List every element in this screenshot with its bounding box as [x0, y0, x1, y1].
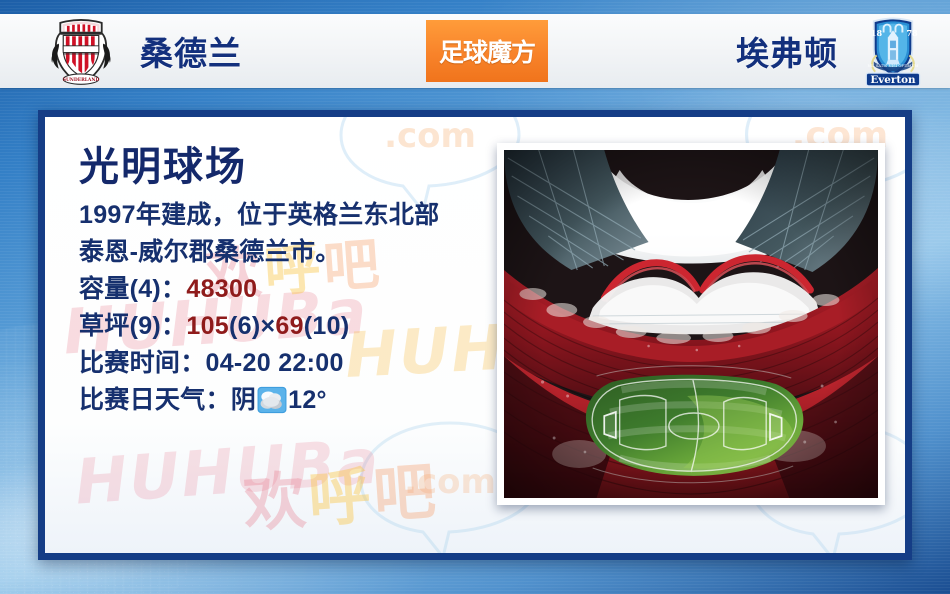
home-team-block[interactable]: SUNDERLAND 桑德兰	[0, 14, 426, 88]
stadium-photo	[504, 150, 878, 498]
svg-text:78: 78	[906, 28, 918, 38]
svg-text:NIL SATIS NISI OPTIMUM: NIL SATIS NISI OPTIMUM	[868, 64, 919, 68]
pitch-width-rank: (10)	[304, 312, 350, 340]
stadium-info-card-screen: SUNDERLAND 桑德兰 足球魔方 埃弗顿	[0, 0, 950, 594]
stadium-capacity-row: 容量(4)：48300	[79, 271, 499, 308]
stadium-details: 光明球场 1997年建成，位于英格兰东北部 泰恩-威尔郡桑德兰市。 容量(4)：…	[79, 145, 499, 419]
svg-text:18: 18	[871, 28, 883, 38]
pitch-length-rank: (6)	[229, 312, 260, 340]
match-time-row: 比赛时间：04-20 22:00	[79, 345, 499, 382]
watermark-brand-cn: 欢呼吧	[240, 440, 441, 543]
stadium-description-line-1: 1997年建成，位于英格兰东北部	[79, 197, 499, 234]
away-team-name: 埃弗顿	[736, 27, 838, 75]
site-logo-text: 足球魔方	[439, 33, 535, 69]
page-title: 光明球场	[79, 145, 499, 189]
stadium-pitch-row: 草坪(9)：105(6)×69(10)	[79, 308, 499, 345]
match-time-value: 04-20 22:00	[206, 349, 344, 377]
sunderland-afc-crest: SUNDERLAND	[44, 14, 118, 88]
pitch-length-value: 105	[186, 312, 229, 340]
home-team-name: 桑德兰	[140, 27, 242, 75]
site-logo-footballcube[interactable]: 足球魔方	[426, 20, 548, 82]
capacity-label: 容量(4)：	[79, 275, 186, 303]
capacity-value: 48300	[186, 275, 257, 303]
away-team-block[interactable]: 埃弗顿 18	[548, 14, 950, 88]
match-header-bar: SUNDERLAND 桑德兰 足球魔方 埃弗顿	[0, 14, 950, 88]
svg-text:.com: .com	[404, 462, 496, 502]
svg-text:Everton: Everton	[870, 74, 916, 86]
match-time-label: 比赛时间：	[79, 349, 206, 377]
pitch-width-value: 69	[275, 312, 303, 340]
weather-condition: 阴	[231, 386, 256, 414]
match-weather-row: 比赛日天气：阴 12°	[79, 382, 499, 419]
svg-text:SUNDERLAND: SUNDERLAND	[63, 78, 100, 83]
weather-temperature: 12°	[288, 386, 327, 414]
cloudy-icon	[257, 386, 287, 414]
watermark-brand-pinyin: HUHUBa	[73, 424, 383, 518]
pitch-label: 草坪(9)：	[79, 312, 186, 340]
stadium-description-line-2: 泰恩-威尔郡桑德兰市。	[79, 234, 499, 271]
everton-fc-crest: 18 78 NIL SATIS NISI OPTIMUM Everton	[856, 14, 930, 88]
pitch-dimension-separator: ×	[260, 312, 275, 340]
stadium-info-card: .com .com .com .com HUHUBa HUHUBa HUHUBa…	[38, 110, 912, 560]
stadium-info-card-body: .com .com .com .com HUHUBa HUHUBa HUHUBa…	[45, 117, 905, 553]
weather-label: 比赛日天气：	[79, 386, 231, 414]
stadium-photo-frame	[497, 143, 885, 505]
